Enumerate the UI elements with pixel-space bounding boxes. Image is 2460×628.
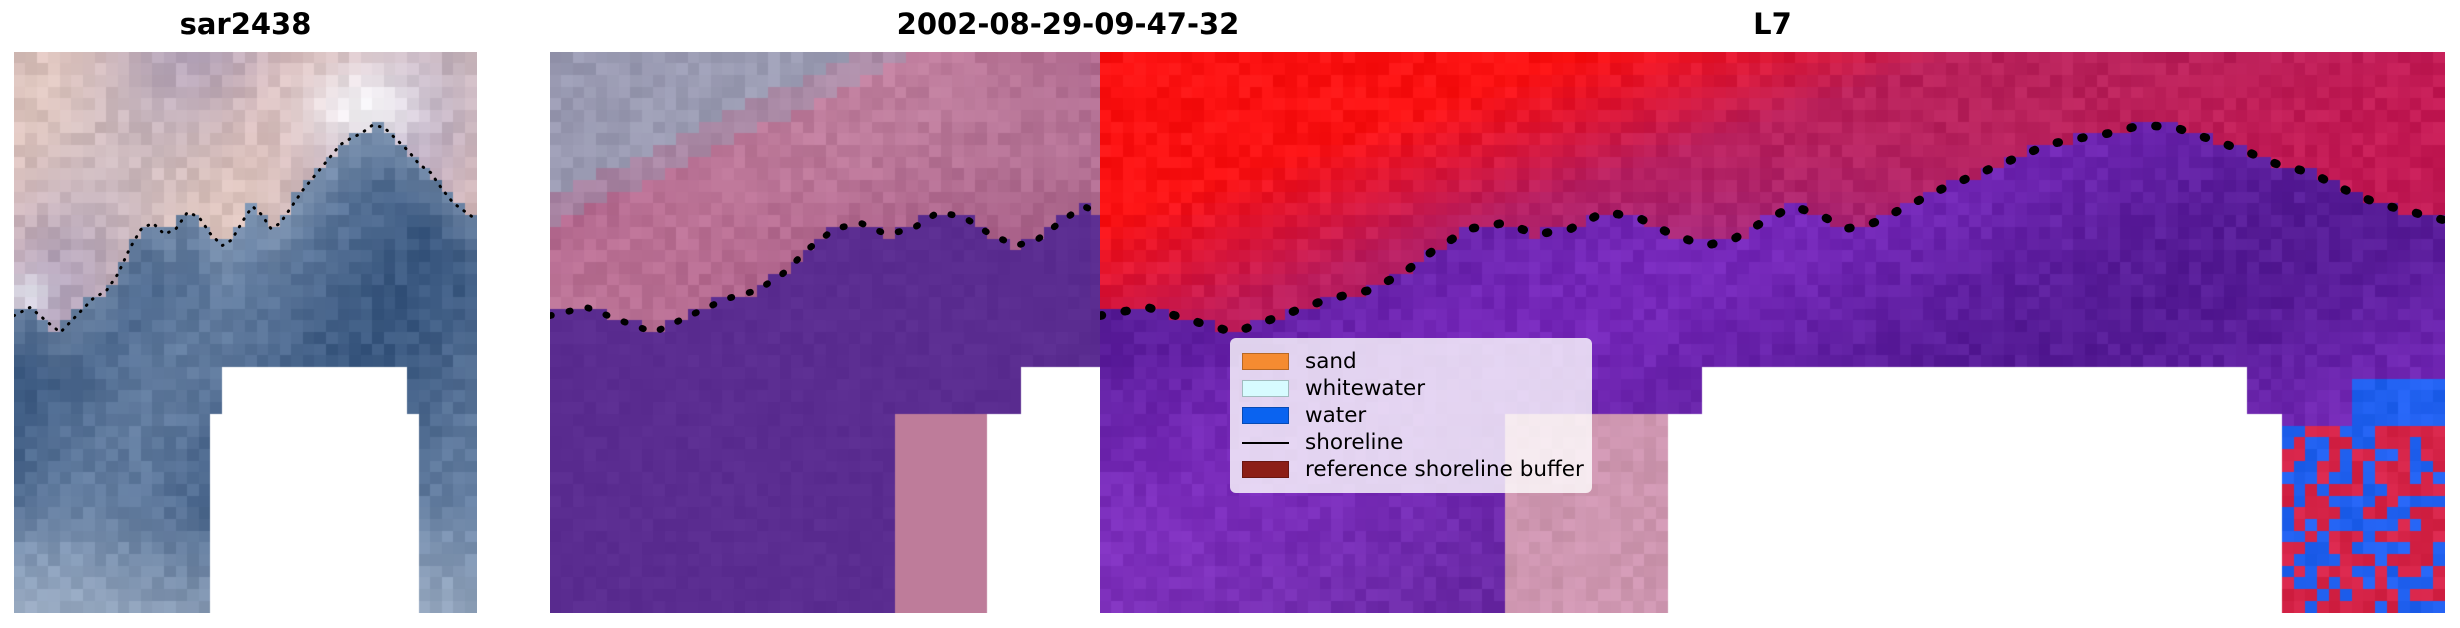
legend-label-whitewater: whitewater [1305,375,1425,402]
legend-box: sand whitewater water shoreline referenc… [1230,338,1592,493]
panel-image-sar[interactable] [14,52,477,613]
legend-swatch-reference-buffer [1242,461,1289,478]
legend-swatch-shoreline [1242,442,1289,444]
panel-title-l7: L7 [1100,4,2445,44]
l7-raster [1100,52,2445,613]
legend-item-reference-buffer: reference shoreline buffer [1242,456,1580,483]
legend-label-reference-buffer: reference shoreline buffer [1305,456,1584,483]
legend-label-shoreline: shoreline [1305,429,1403,456]
legend-item-whitewater: whitewater [1242,375,1580,402]
figure-canvas: sar2438 2002-08-29-09-47-32 L7 sand whit… [0,0,2460,628]
legend-item-sand: sand [1242,348,1580,375]
panel-title-sar: sar2438 [14,4,477,44]
legend-swatch-sand [1242,353,1289,370]
legend-item-water: water [1242,402,1580,429]
legend-item-shoreline: shoreline [1242,429,1580,456]
legend-swatch-water [1242,407,1289,424]
legend-label-sand: sand [1305,348,1357,375]
panel-image-l7[interactable] [1100,52,2445,613]
legend-swatch-whitewater [1242,380,1289,397]
sar-raster [14,52,477,613]
legend-label-water: water [1305,402,1366,429]
